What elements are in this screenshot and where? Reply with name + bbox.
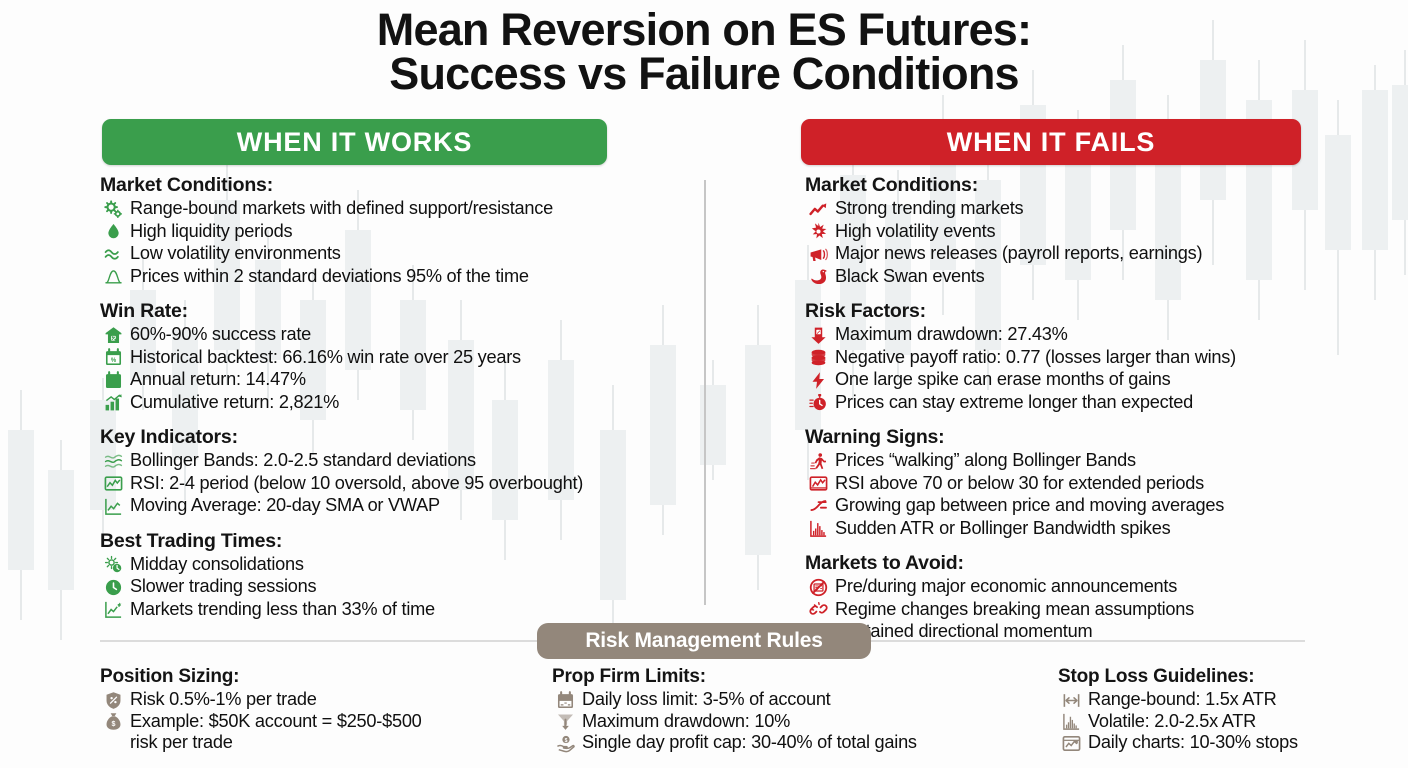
list-item-label: Negative payoff ratio: 0.77 (losses larg… — [835, 347, 1236, 369]
volatility-histogram-icon — [1058, 711, 1084, 732]
list-item: Cumulative return: 2,821% — [100, 392, 700, 414]
list-item: Black Swan events — [805, 266, 1305, 288]
list-item: Maximum drawdown: 10% — [552, 711, 1052, 733]
column-when-it-fails: Market Conditions:Strong trending market… — [805, 174, 1305, 643]
calendar-loss-icon — [552, 689, 578, 710]
section-heading: Best Trading Times: — [100, 530, 700, 553]
bottom-column-prop-firm-limits: Prop Firm Limits:Daily loss limit: 3-5% … — [552, 666, 1052, 754]
list-item: Prices can stay extreme longer than expe… — [805, 392, 1305, 414]
bar-chart-up-icon — [100, 392, 126, 413]
lightning-bolt-icon — [805, 369, 831, 390]
list-item: Major news releases (payroll reports, ea… — [805, 243, 1305, 265]
list-item: Range-bound: 1.5x ATR — [1058, 689, 1408, 711]
no-news-icon — [805, 576, 831, 597]
section-heading: Market Conditions: — [805, 174, 1305, 197]
list-item-label: 60%-90% success rate — [130, 324, 311, 346]
list-item-label: Sudden ATR or Bollinger Bandwidth spikes — [835, 518, 1170, 540]
list-item: 60%-90% success rate — [100, 324, 700, 346]
list-item: Negative payoff ratio: 0.77 (losses larg… — [805, 347, 1305, 369]
banner-when-it-works: WHEN IT WORKS — [102, 119, 607, 165]
bottom-column-stop-loss-guidelines: Stop Loss Guidelines:Range-bound: 1.5x A… — [1058, 666, 1408, 754]
list-item-label: Historical backtest: 66.16% win rate ove… — [130, 347, 521, 369]
coins-icon — [805, 347, 831, 368]
arrow-down-drawdown-icon — [805, 324, 831, 345]
list-item: Midday consolidations — [100, 554, 700, 576]
risk-management-badge-label: Risk Management Rules — [585, 629, 822, 653]
list-item-label: Midday consolidations — [130, 554, 304, 576]
money-bag-icon: $ — [100, 711, 126, 732]
list-item-label: High liquidity periods — [130, 221, 292, 243]
banner-when-it-fails: WHEN IT FAILS — [801, 119, 1301, 165]
rsi-box-icon — [805, 473, 831, 494]
list-item-label: Range-bound: 1.5x ATR — [1088, 689, 1277, 711]
list-item: Prices within 2 standard deviations 95% … — [100, 266, 700, 288]
background-candle — [1325, 135, 1351, 250]
walking-person-icon — [805, 450, 831, 471]
list-item: Regime changes breaking mean assumptions — [805, 599, 1305, 621]
section-heading: Market Conditions: — [100, 174, 700, 197]
trend-chart-icon — [100, 599, 126, 620]
list-item: Annual return: 14.47% — [100, 369, 700, 391]
section-heading: Win Rate: — [100, 300, 700, 323]
list-item: Sustained directional momentum — [805, 621, 1305, 643]
list-item-label: Major news releases (payroll reports, ea… — [835, 243, 1202, 265]
section-best-trading-times: Best Trading Times:Midday consolidations… — [100, 530, 700, 621]
sun-clock-icon — [100, 554, 126, 575]
list-item-label: Prices “walking” along Bollinger Bands — [835, 450, 1136, 472]
clock-icon — [100, 576, 126, 597]
list-item-label: Annual return: 14.47% — [130, 369, 306, 391]
list-item-label: Range-bound markets with defined support… — [130, 198, 553, 220]
list-item-label: RSI: 2-4 period (below 10 oversold, abov… — [130, 473, 583, 495]
list-item-label: Moving Average: 20-day SMA or VWAP — [130, 495, 440, 517]
section-market-conditions: Market Conditions:Range-bound markets wi… — [100, 174, 700, 287]
banner-fails-label: WHEN IT FAILS — [947, 127, 1155, 158]
section-heading: Risk Factors: — [805, 300, 1305, 323]
background-candle — [8, 430, 34, 570]
burst-star-icon — [805, 221, 831, 242]
list-item: Pre/during major economic announcements — [805, 576, 1305, 598]
funnel-down-arrow-icon — [552, 711, 578, 732]
rsi-chart-icon — [100, 473, 126, 494]
list-item-label: Daily charts: 10-30% stops — [1088, 732, 1298, 754]
list-item: Markets trending less than 33% of time — [100, 599, 700, 621]
list-item: $Single day profit cap: 30-40% of total … — [552, 732, 1052, 754]
risk-management-badge: Risk Management Rules — [537, 623, 871, 659]
line-chart-up-icon — [100, 495, 126, 516]
list-item: Range-bound markets with defined support… — [100, 198, 700, 220]
range-width-icon — [1058, 689, 1084, 710]
section-market-conditions: Market Conditions:Strong trending market… — [805, 174, 1305, 287]
section-heading: Key Indicators: — [100, 426, 700, 449]
banner-works-label: WHEN IT WORKS — [237, 127, 472, 158]
list-item-label: Single day profit cap: 30-40% of total g… — [582, 732, 917, 754]
list-item-label: Prices can stay extreme longer than expe… — [835, 392, 1193, 414]
list-item-label: Strong trending markets — [835, 198, 1023, 220]
list-item: Low volatility environments — [100, 243, 700, 265]
background-candle — [48, 470, 74, 590]
svg-text:$: $ — [111, 720, 115, 728]
infographic-root: Mean Reversion on ES Futures: Success vs… — [0, 0, 1408, 768]
list-item-label: High volatility events — [835, 221, 995, 243]
calendar-percent-icon: % — [100, 347, 126, 368]
list-item-label: Risk 0.5%-1% per trade — [130, 689, 317, 711]
list-item: %Historical backtest: 66.16% win rate ov… — [100, 347, 700, 369]
list-item: Sudden ATR or Bollinger Bandwidth spikes — [805, 518, 1305, 540]
vertical-divider — [704, 180, 706, 605]
list-item-label: Slower trading sessions — [130, 576, 316, 598]
shield-percent-icon — [100, 689, 126, 710]
list-item: Bollinger Bands: 2.0-2.5 standard deviat… — [100, 450, 700, 472]
list-item: Growing gap between price and moving ave… — [805, 495, 1305, 517]
divider-line-left — [100, 640, 540, 642]
list-item-label: One large spike can erase months of gain… — [835, 369, 1171, 391]
section-heading: Stop Loss Guidelines: — [1058, 666, 1408, 688]
list-item-label: Markets trending less than 33% of time — [130, 599, 435, 621]
list-item-label: Prices within 2 standard deviations 95% … — [130, 266, 529, 288]
section-risk-factors: Risk Factors:Maximum drawdown: 27.43%Neg… — [805, 300, 1305, 413]
list-item-label: RSI above 70 or below 30 for extended pe… — [835, 473, 1204, 495]
list-item: Daily charts: 10-30% stops — [1058, 732, 1408, 754]
list-item: Daily loss limit: 3-5% of account — [552, 689, 1052, 711]
list-item: $Example: $50K account = $250-$500 risk … — [100, 711, 550, 754]
list-item: High volatility events — [805, 221, 1305, 243]
page-title: Mean Reversion on ES Futures: Success vs… — [0, 8, 1408, 96]
list-item: High liquidity periods — [100, 221, 700, 243]
stopwatch-icon — [805, 392, 831, 413]
list-item-label: Maximum drawdown: 27.43% — [835, 324, 1068, 346]
list-item: One large spike can erase months of gain… — [805, 369, 1305, 391]
section-heading: Prop Firm Limits: — [552, 666, 1052, 688]
list-item: Prices “walking” along Bollinger Bands — [805, 450, 1305, 472]
section-heading: Markets to Avoid: — [805, 552, 1305, 575]
list-item: Maximum drawdown: 27.43% — [805, 324, 1305, 346]
list-item-label: Bollinger Bands: 2.0-2.5 standard deviat… — [130, 450, 476, 472]
section-heading: Position Sizing: — [100, 666, 550, 688]
megaphone-icon — [805, 243, 831, 264]
bell-curve-icon — [100, 266, 126, 287]
svg-text:$: $ — [564, 737, 567, 743]
section-markets-to-avoid: Markets to Avoid:Pre/during major econom… — [805, 552, 1305, 643]
list-item-label: Sustained directional momentum — [835, 621, 1092, 643]
list-item-label: Example: $50K account = $250-$500 risk p… — [130, 711, 440, 754]
list-item: Risk 0.5%-1% per trade — [100, 689, 550, 711]
list-item-label: Low volatility environments — [130, 243, 341, 265]
list-item-label: Regime changes breaking mean assumptions — [835, 599, 1194, 621]
trending-up-arrow-icon — [805, 198, 831, 219]
background-candle — [1392, 85, 1408, 220]
list-item: Slower trading sessions — [100, 576, 700, 598]
section-win-rate: Win Rate:60%-90% success rate%Historical… — [100, 300, 700, 413]
water-drop-icon — [100, 221, 126, 242]
section-warning-signs: Warning Signs:Prices “walking” along Bol… — [805, 426, 1305, 539]
section-heading: Warning Signs: — [805, 426, 1305, 449]
gears-icon — [100, 198, 126, 219]
bottom-column-position-sizing: Position Sizing:Risk 0.5%-1% per trade$E… — [100, 666, 550, 754]
list-item: RSI: 2-4 period (below 10 oversold, abov… — [100, 473, 700, 495]
daily-chart-icon — [1058, 732, 1084, 753]
bollinger-bands-icon — [100, 450, 126, 471]
column-when-it-works: Market Conditions:Range-bound markets wi… — [100, 174, 700, 620]
title-line-2: Success vs Failure Conditions — [0, 52, 1408, 96]
list-item: Moving Average: 20-day SMA or VWAP — [100, 495, 700, 517]
wave-icon — [100, 243, 126, 264]
list-item-label: Maximum drawdown: 10% — [582, 711, 790, 733]
svg-text:%: % — [110, 358, 116, 364]
list-item-label: Cumulative return: 2,821% — [130, 392, 339, 414]
list-item-label: Growing gap between price and moving ave… — [835, 495, 1224, 517]
arrow-up-box-icon — [100, 324, 126, 345]
background-candle — [745, 345, 771, 555]
list-item-label: Daily loss limit: 3-5% of account — [582, 689, 831, 711]
diverging-lines-icon — [805, 495, 831, 516]
background-candle — [1362, 90, 1388, 250]
swan-icon — [805, 266, 831, 287]
calendar-icon — [100, 369, 126, 390]
spike-histogram-icon — [805, 518, 831, 539]
list-item: Volatile: 2.0-2.5x ATR — [1058, 711, 1408, 733]
list-item: RSI above 70 or below 30 for extended pe… — [805, 473, 1305, 495]
hand-coin-icon: $ — [552, 732, 578, 753]
list-item-label: Pre/during major economic announcements — [835, 576, 1177, 598]
list-item: Strong trending markets — [805, 198, 1305, 220]
section-key-indicators: Key Indicators:Bollinger Bands: 2.0-2.5 … — [100, 426, 700, 517]
list-item-label: Black Swan events — [835, 266, 984, 288]
broken-chain-icon — [805, 599, 831, 620]
list-item-label: Volatile: 2.0-2.5x ATR — [1088, 711, 1256, 733]
